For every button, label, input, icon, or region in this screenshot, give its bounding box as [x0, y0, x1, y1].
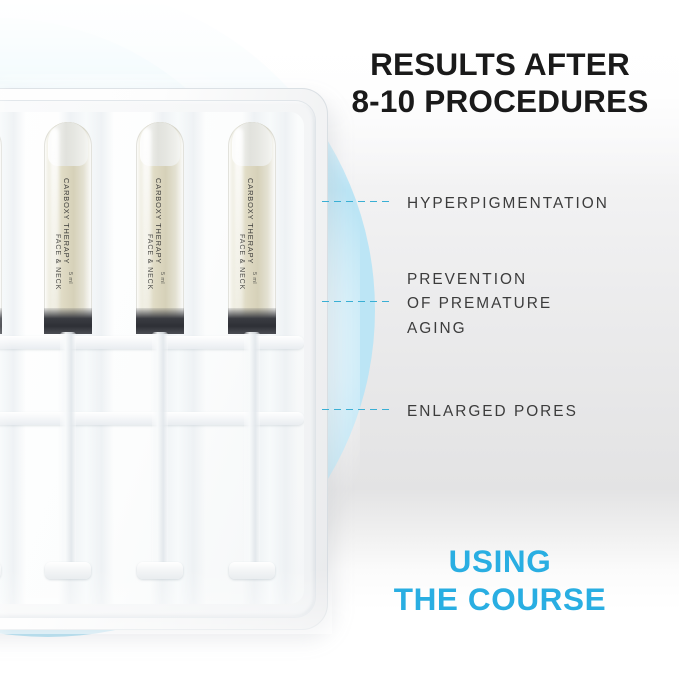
- syringe-plunger-seal: [44, 308, 92, 334]
- headline-line-2: 8-10 PROCEDURES: [330, 83, 670, 120]
- leader-dash-icon: [322, 409, 394, 410]
- syringe-plunger-stem: [152, 332, 168, 568]
- benefit-label: PREVENTION OF PREMATURE AGING: [407, 268, 552, 341]
- syringe-volume-label: 5 ml: [251, 272, 257, 284]
- syringe-thumb-rest: [45, 562, 91, 579]
- leader-dash-icon: [322, 201, 394, 202]
- syringe-thumb-rest: [137, 562, 183, 579]
- headline-line-1: RESULTS AFTER: [330, 46, 670, 83]
- syringe-brand-label: CARBOXY THERAPY: [154, 178, 163, 318]
- benefit-label: ENLARGED PORES: [407, 400, 578, 424]
- page-title: RESULTS AFTER 8-10 PROCEDURES: [330, 46, 670, 120]
- tray-well: CARBOXY THERAPY FACE & NECK 5 ml CARBOXY…: [0, 112, 304, 604]
- syringe-barrel: CARBOXY THERAPY FACE & NECK 5 ml: [0, 122, 2, 330]
- benefit-label: HYPERPIGMENTATION: [407, 192, 609, 216]
- syringe-plunger-stem: [60, 332, 76, 568]
- syringe-volume-label: 5 ml: [67, 272, 73, 284]
- syringe-brand-label: CARBOXY THERAPY: [246, 178, 255, 318]
- syringe-plunger-seal: [228, 308, 276, 334]
- syringe-volume-label: 5 ml: [159, 272, 165, 284]
- list-item: ENLARGED PORES: [322, 400, 672, 424]
- syringe-thumb-rest: [229, 562, 275, 579]
- syringe-barrel: CARBOXY THERAPY FACE & NECK 5 ml: [228, 122, 276, 330]
- product-photo-syringe-tray: CARBOXY THERAPY FACE & NECK 5 ml CARBOXY…: [0, 88, 328, 630]
- tray-slot: [0, 112, 26, 604]
- syringe-plunger-seal: [0, 308, 2, 334]
- promo-poster: CARBOXY THERAPY FACE & NECK 5 ml CARBOXY…: [0, 0, 679, 679]
- list-item: HYPERPIGMENTATION: [322, 192, 672, 216]
- footer-callout: USING THE COURSE: [330, 542, 670, 619]
- leader-dash-icon: [322, 301, 394, 302]
- syringe-plunger-stem: [244, 332, 260, 568]
- footer-line-2: THE COURSE: [330, 580, 670, 618]
- syringe-barrel: CARBOXY THERAPY FACE & NECK 5 ml: [44, 122, 92, 330]
- footer-line-1: USING: [330, 542, 670, 580]
- list-item: PREVENTION OF PREMATURE AGING: [322, 268, 672, 341]
- syringe-plunger-seal: [136, 308, 184, 334]
- syringe-barrel: CARBOXY THERAPY FACE & NECK 5 ml: [136, 122, 184, 330]
- syringe-brand-label: CARBOXY THERAPY: [62, 178, 71, 318]
